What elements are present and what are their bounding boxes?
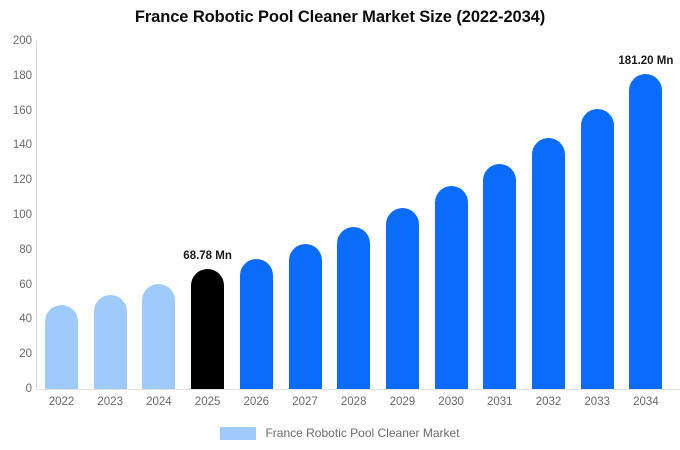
bar-rect-2026 <box>240 259 273 390</box>
y-axis-tick-0: 0 <box>2 383 32 395</box>
bar-rect-2028 <box>337 227 370 389</box>
y-axis-tick-120: 120 <box>2 174 32 186</box>
legend-swatch <box>220 427 256 440</box>
bar-rect-2030 <box>435 186 468 389</box>
bar-2031[interactable] <box>483 41 516 389</box>
bar-rect-2032 <box>532 138 565 389</box>
chart-title: France Robotic Pool Cleaner Market Size … <box>0 8 680 27</box>
bar-2030[interactable] <box>435 41 468 389</box>
bar-rect-2024 <box>142 284 175 389</box>
bar-2027[interactable] <box>289 41 322 389</box>
bar-rect-2031 <box>483 164 516 389</box>
x-axis-line <box>36 389 680 390</box>
bar-chart: France Robotic Pool Cleaner Market Size … <box>0 0 680 450</box>
y-axis-tick-160: 160 <box>2 105 32 117</box>
bar-2029[interactable] <box>386 41 419 389</box>
y-axis-tick-180: 180 <box>2 70 32 82</box>
x-axis-tick-2034: 2034 <box>616 396 676 408</box>
bar-2025[interactable] <box>191 41 224 389</box>
y-axis-tick-60: 60 <box>2 279 32 291</box>
bar-rect-2027 <box>289 244 322 389</box>
bar-rect-2023 <box>94 295 127 389</box>
bar-2034[interactable] <box>629 41 662 389</box>
bar-2028[interactable] <box>337 41 370 389</box>
y-axis-tick-200: 200 <box>2 35 32 47</box>
y-axis-tick-40: 40 <box>2 313 32 325</box>
bar-rect-2029 <box>386 208 419 389</box>
bar-2024[interactable] <box>142 41 175 389</box>
bar-value-label-2025: 68.78 Mn <box>183 250 232 262</box>
bar-rect-2034 <box>629 74 662 389</box>
y-axis-tick-100: 100 <box>2 209 32 221</box>
y-axis-tick-140: 140 <box>2 139 32 151</box>
bar-rect-2022 <box>45 305 78 389</box>
bar-2026[interactable] <box>240 41 273 389</box>
bar-2032[interactable] <box>532 41 565 389</box>
bar-2023[interactable] <box>94 41 127 389</box>
chart-legend: France Robotic Pool Cleaner Market <box>0 426 680 440</box>
bar-2022[interactable] <box>45 41 78 389</box>
bar-rect-2033 <box>581 109 614 389</box>
y-axis-tick-80: 80 <box>2 244 32 256</box>
y-axis-tick-labels: 200180160140120100806040200 <box>0 0 32 450</box>
legend-item-france-robotic-pool-cleaner-market[interactable]: France Robotic Pool Cleaner Market <box>220 426 459 440</box>
y-axis-tick-20: 20 <box>2 348 32 360</box>
legend-label: France Robotic Pool Cleaner Market <box>265 426 459 440</box>
bar-2033[interactable] <box>581 41 614 389</box>
bar-value-label-2034: 181.20 Mn <box>618 55 673 67</box>
bar-rect-2025 <box>191 269 224 389</box>
